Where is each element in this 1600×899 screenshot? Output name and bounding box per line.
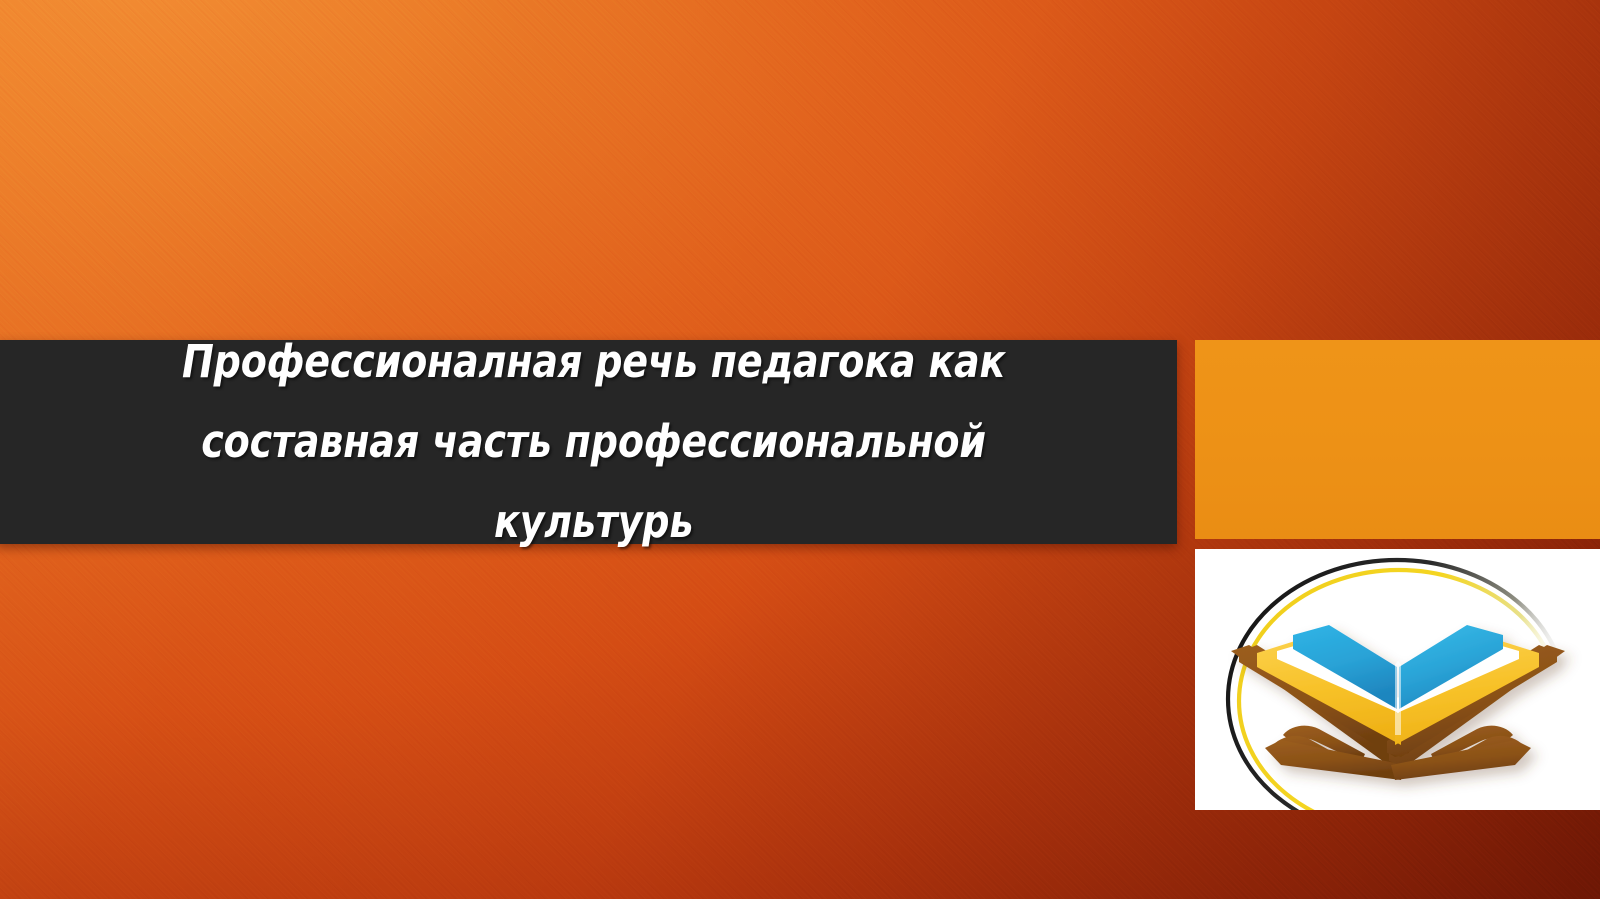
presentation-slide: Профессионалная речь педагока как состав… (0, 0, 1600, 899)
slide-picture-group (1195, 340, 1600, 810)
slide-title: Профессионалная речь педагока как состав… (60, 322, 1113, 562)
organization-logo (1195, 549, 1600, 810)
orange-accent-block (1195, 340, 1600, 539)
title-band: Профессионалная речь педагока как состав… (0, 340, 1177, 544)
logo-panel (1195, 549, 1600, 810)
